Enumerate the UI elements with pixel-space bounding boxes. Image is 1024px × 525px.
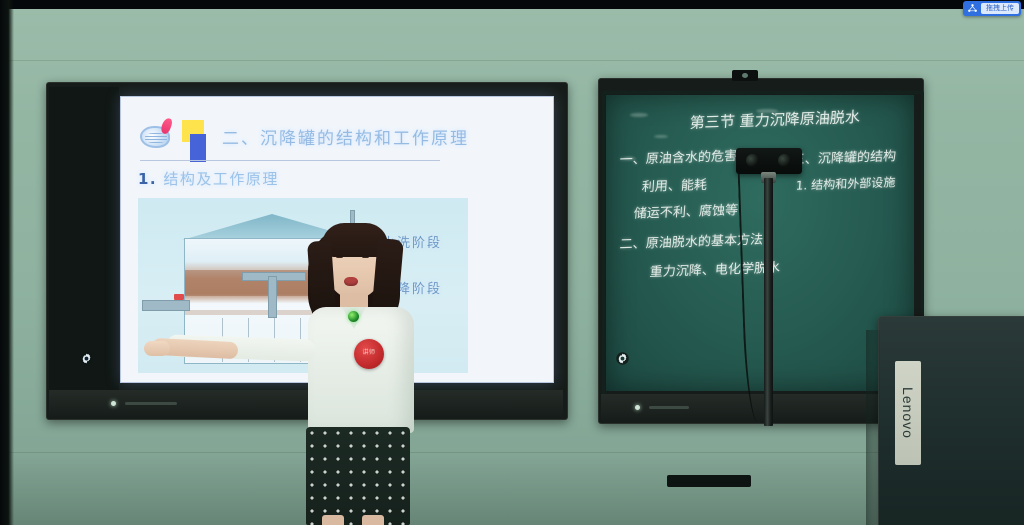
tripod-camera — [736, 148, 802, 174]
camera-lens-right — [778, 154, 791, 167]
presenter: 讲师 — [270, 215, 460, 525]
video-letterbox-left — [0, 0, 14, 525]
share-nodes-icon — [967, 3, 978, 14]
power-led — [635, 405, 640, 410]
decor-square-blue — [190, 134, 206, 162]
mouth — [344, 277, 358, 286]
upload-button-label[interactable]: 拖拽上传 — [981, 3, 1019, 14]
name-badge: 讲师 — [354, 339, 384, 369]
video-letterbox-top — [0, 0, 1024, 9]
torso-shirt — [308, 307, 414, 433]
pointing-hand — [144, 341, 170, 356]
slide-title-row: 二、沉降罐的结构和工作原理 — [138, 116, 538, 162]
slide-subtitle-number: 1. — [138, 170, 157, 188]
leg-right — [362, 515, 384, 525]
upload-button[interactable]: 拖拽上传 — [963, 1, 1021, 16]
camera-lens-left — [746, 154, 759, 167]
screenshot-root: 二、沉降罐的结构和工作原理 1. 结构及工作原理 — [0, 0, 1024, 525]
webcam-icon — [732, 70, 758, 81]
lenovo-brand-text: Lenovo — [900, 387, 916, 439]
slide-title: 二、沉降罐的结构和工作原理 — [222, 124, 469, 149]
leg-left — [322, 515, 344, 525]
tank-inlet-pipe — [142, 300, 190, 311]
power-led — [111, 401, 116, 406]
school-logo-icon — [138, 118, 180, 152]
bezel-button-strip[interactable] — [649, 406, 689, 409]
slide-subtitle: 1. 结构及工作原理 — [138, 168, 279, 189]
gear-icon[interactable] — [615, 351, 630, 366]
badge-text: 讲师 — [354, 347, 384, 356]
polka-dot-skirt — [306, 427, 410, 525]
display-dark-margin — [49, 87, 119, 393]
lenovo-monitor-shadow — [866, 330, 880, 525]
bezel-button-strip[interactable] — [125, 402, 177, 405]
title-underline — [140, 160, 440, 161]
tank-valve-top — [174, 294, 184, 300]
lenovo-monitor[interactable]: Lenovo — [878, 316, 1024, 525]
slide-subtitle-text: 结构及工作原理 — [163, 170, 279, 188]
wall-seam — [0, 60, 1024, 61]
pendant-icon — [348, 311, 359, 322]
lenovo-logo: Lenovo — [895, 361, 921, 465]
gear-icon[interactable] — [79, 351, 94, 366]
